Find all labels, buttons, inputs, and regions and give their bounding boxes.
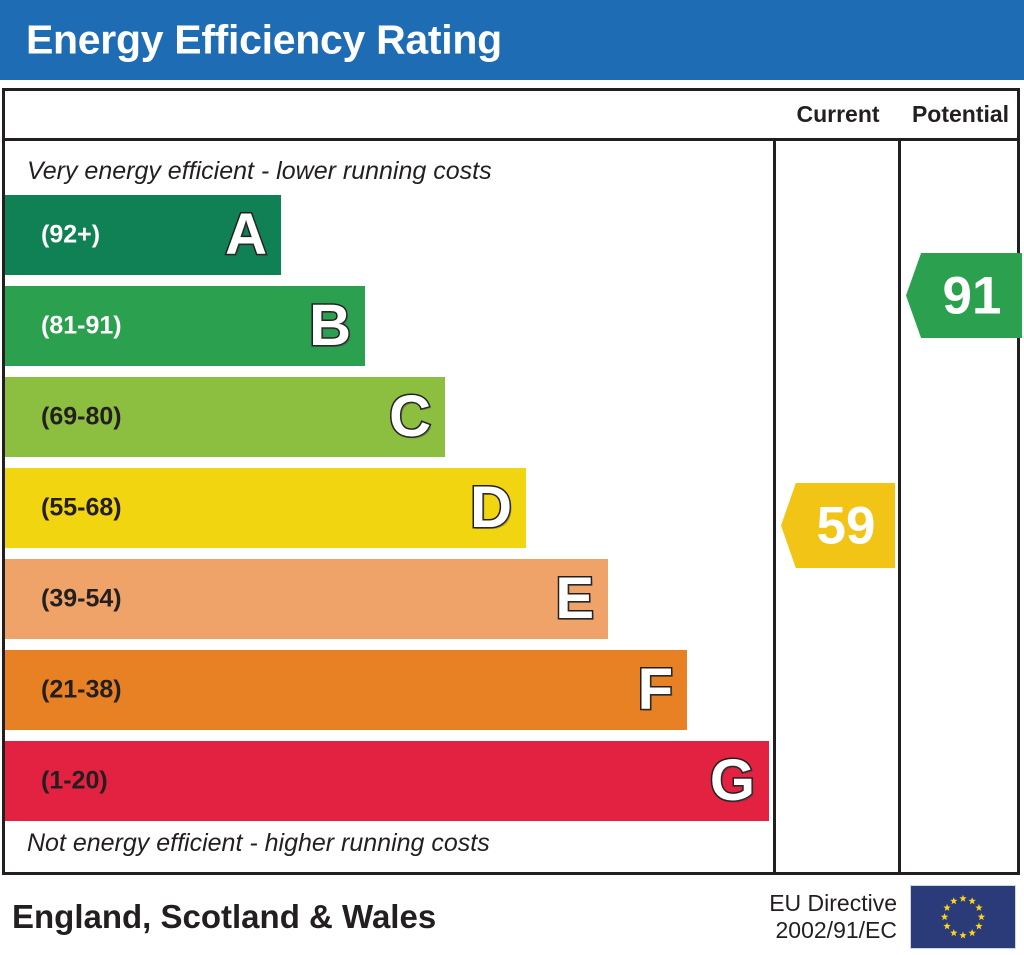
band-b-range: (81-91): [41, 312, 122, 341]
caption-not-efficient: Not energy efficient - higher running co…: [27, 829, 490, 858]
band-c-letter: C: [389, 388, 431, 446]
column-separator-current: [773, 141, 776, 872]
band-a-letter: A: [225, 206, 267, 264]
eu-stars-icon: [911, 886, 1015, 948]
band-b: (81-91) B: [5, 286, 365, 366]
band-f-letter: F: [638, 661, 673, 719]
column-header-potential: Potential: [901, 91, 1020, 138]
band-f-range: (21-38): [41, 676, 122, 705]
column-separator-potential: [898, 141, 901, 872]
band-e: (39-54) E: [5, 559, 608, 639]
band-a: (92+) A: [5, 195, 281, 275]
potential-rating-value: 91: [906, 269, 1022, 322]
band-b-letter: B: [309, 297, 351, 355]
chart-title-bar: Energy Efficiency Rating: [0, 0, 1024, 80]
current-rating-value: 59: [781, 499, 895, 552]
band-c-range: (69-80): [41, 403, 122, 432]
band-g: (1-20) G: [5, 741, 769, 821]
bands-area: Very energy efficient - lower running co…: [5, 141, 773, 872]
band-a-range: (92+): [41, 221, 100, 250]
footer-directive-line2: 2002/91/EC: [752, 917, 897, 944]
band-d-letter: D: [470, 479, 512, 537]
column-header-row: Current Potential: [5, 91, 1017, 141]
chart-frame: Current Potential Very energy efficient …: [2, 88, 1020, 875]
eu-flag-icon: [910, 885, 1016, 949]
potential-rating-arrow: 91: [906, 253, 1022, 338]
column-header-current: Current: [776, 91, 900, 138]
band-g-range: (1-20): [41, 767, 108, 796]
page-title: Energy Efficiency Rating: [26, 17, 502, 64]
band-e-letter: E: [555, 570, 594, 628]
energy-efficiency-rating-chart: Energy Efficiency Rating Current Potenti…: [0, 0, 1024, 955]
caption-efficient: Very energy efficient - lower running co…: [27, 157, 492, 186]
footer-directive-line1: EU Directive: [752, 889, 897, 916]
band-d-range: (55-68): [41, 494, 122, 523]
current-rating-arrow: 59: [781, 483, 895, 568]
footer-directive: EU Directive 2002/91/EC: [752, 889, 897, 943]
footer-region-label: England, Scotland & Wales: [12, 898, 436, 936]
band-c: (69-80) C: [5, 377, 445, 457]
band-e-range: (39-54): [41, 585, 122, 614]
band-f: (21-38) F: [5, 650, 687, 730]
band-g-letter: G: [710, 752, 755, 810]
chart-footer: England, Scotland & Wales EU Directive 2…: [0, 878, 1024, 955]
band-d: (55-68) D: [5, 468, 526, 548]
